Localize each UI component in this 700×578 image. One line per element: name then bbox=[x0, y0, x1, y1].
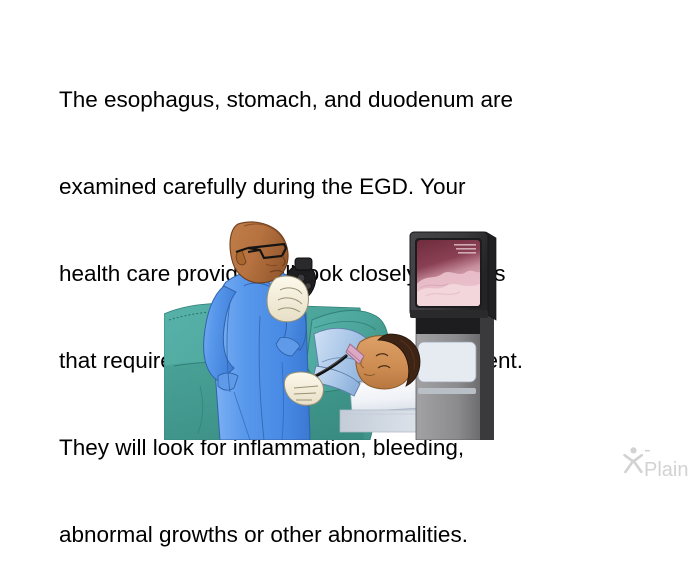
endoscopy-scene-svg bbox=[164, 216, 506, 440]
endoscopy-monitor bbox=[410, 232, 496, 320]
x-plain-figure-icon bbox=[623, 447, 644, 473]
logo-wordmark: -Plain bbox=[644, 440, 695, 480]
endoscopy-illustration bbox=[164, 216, 506, 440]
doctor-gloved-hand-upper bbox=[267, 276, 308, 322]
doctor bbox=[204, 222, 324, 440]
body-text-line: examined carefully during the EGD. Your bbox=[59, 172, 659, 201]
body-text-line: abnormal growths or other abnormalities. bbox=[59, 520, 659, 549]
x-plain-logo: -Plain bbox=[623, 446, 695, 474]
body-text-line: The esophagus, stomach, and duodenum are bbox=[59, 85, 659, 114]
monitor-cart bbox=[416, 312, 494, 440]
